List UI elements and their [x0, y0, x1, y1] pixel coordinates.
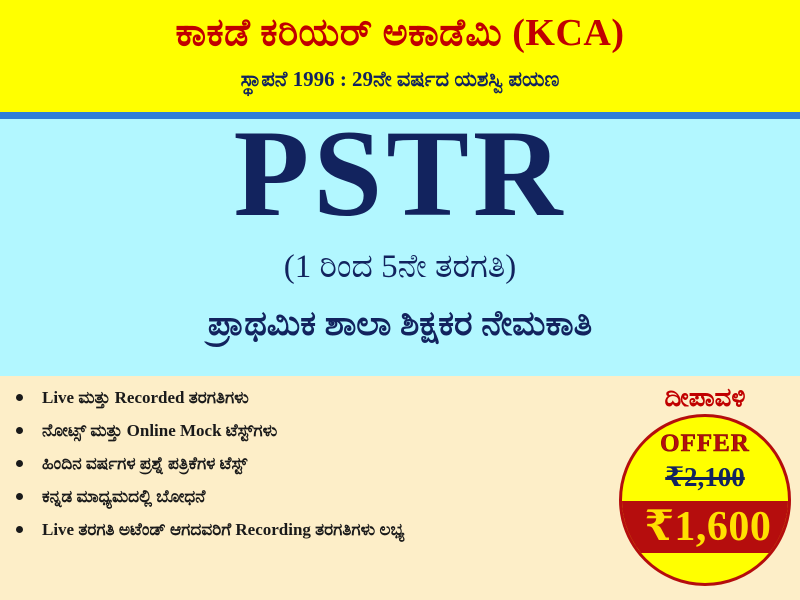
- bullet-icon: [16, 460, 23, 467]
- bullet-icon: [16, 427, 23, 434]
- feature-list: Live ಮತ್ತು Recorded ತರಗತಿಗಳು ನೋಟ್ಸ್ ಮತ್ತ…: [0, 386, 610, 551]
- exam-class-range: (1 ರಿಂದ 5ನೇ ತರಗತಿ): [0, 247, 800, 287]
- bullet-icon: [16, 526, 23, 533]
- feature-text: ಕನ್ನಡ ಮಾಧ್ಯಮದಲ್ಲಿ ಬೋಧನೆ: [42, 487, 205, 506]
- feature-text: ಹಿಂದಿನ ವರ್ಷಗಳ ಪ್ರಶ್ನೆ ಪತ್ರಿಕೆಗಳ ಟೆಸ್ಟ್: [42, 454, 247, 473]
- offer-label: OFFER: [622, 430, 788, 458]
- list-item: ಕನ್ನಡ ಮಾಧ್ಯಮದಲ್ಲಿ ಬೋಧನೆ: [0, 485, 610, 509]
- list-item: ಹಿಂದಿನ ವರ್ಷಗಳ ಪ್ರಶ್ನೆ ಪತ್ರಿಕೆಗಳ ಟೆಸ್ಟ್: [0, 452, 610, 476]
- offer-badge: OFFER ₹2,100 ₹1,600: [619, 414, 791, 586]
- festival-label: ದೀಪಾವಳಿ: [612, 383, 798, 413]
- list-item: Live ತರಗತಿ ಅಟೆಂಡ್ ಆಗದವರಿಗೆ Recording ತರಗ…: [0, 518, 610, 542]
- feature-text: ನೋಟ್ಸ್ ಮತ್ತು Online Mock ಟೆಸ್ಟ್‌ಗಳು: [42, 421, 277, 440]
- original-price: ₹2,100: [622, 461, 788, 493]
- feature-text: Live ಮತ್ತು Recorded ತರಗತಿಗಳು: [42, 388, 249, 407]
- promotional-banner: ಕಾಕಡೆ ಕರಿಯರ್ ಅಕಾಡೆಮಿ (KCA) ಸ್ಥಾಪನೆ 1996 …: [0, 0, 800, 600]
- exam-code-title: PSTR: [0, 112, 800, 236]
- bullet-icon: [16, 493, 23, 500]
- discounted-price: ₹1,600: [619, 501, 791, 553]
- feature-text: Live ತರಗತಿ ಅಟೆಂಡ್ ಆಗದವರಿಗೆ Recording ತರಗ…: [42, 520, 404, 539]
- price-band: ₹1,600: [619, 501, 791, 553]
- list-item: ನೋಟ್ಸ್ ಮತ್ತು Online Mock ಟೆಸ್ಟ್‌ಗಳು: [0, 419, 610, 443]
- list-item: Live ಮತ್ತು Recorded ತರಗತಿಗಳು: [0, 386, 610, 410]
- bullet-icon: [16, 394, 23, 401]
- academy-name: ಕಾಕಡೆ ಕರಿಯರ್ ಅಕಾಡೆಮಿ (KCA): [0, 11, 800, 55]
- exam-post-title: ಪ್ರಾಥಮಿಕ ಶಾಲಾ ಶಿಕ್ಷಕರ ನೇಮಕಾತಿ: [0, 302, 800, 346]
- academy-established-line: ಸ್ಥಾಪನೆ 1996 : 29ನೇ ವರ್ಷದ ಯಶಸ್ವಿ ಪಯಣ: [0, 66, 800, 92]
